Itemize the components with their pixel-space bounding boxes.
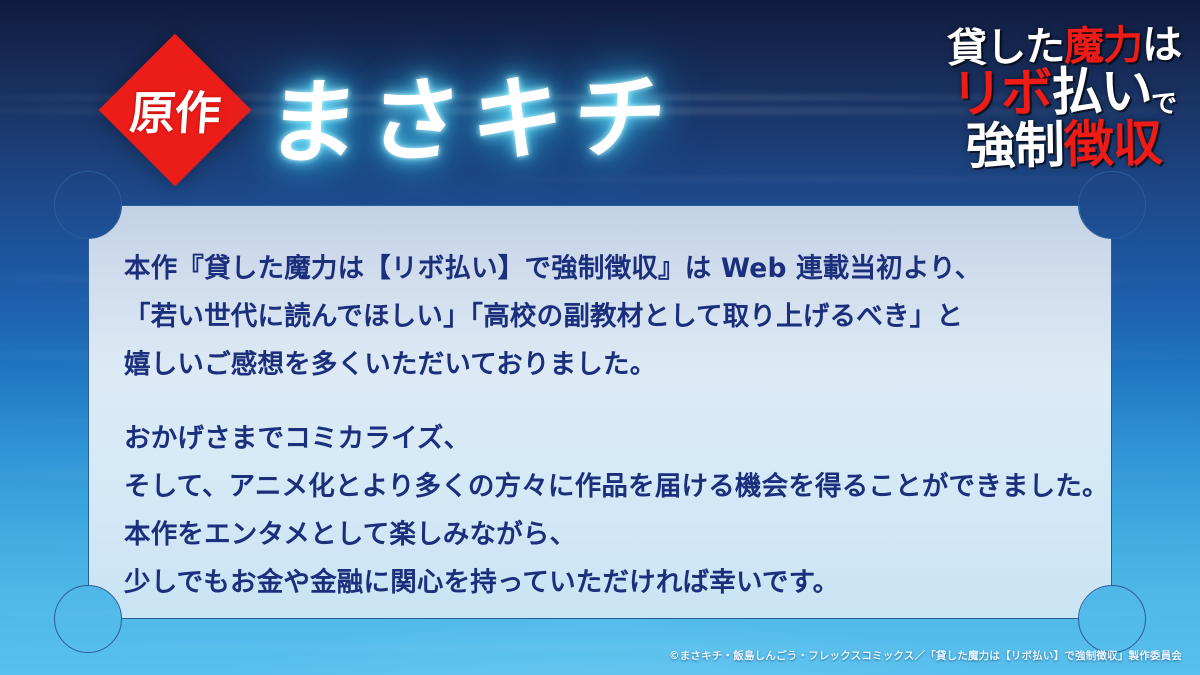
presentation-slide: 原作 まさキチ 貸した魔力は リボ払いで 強制徴収 本作『貸した魔力は【リボ払い… — [0, 0, 1200, 675]
title-logo-seg: 徴収 — [1063, 113, 1162, 174]
original-work-badge: 原作 — [99, 34, 251, 186]
message-panel: 本作『貸した魔力は【リボ払い】で強制徴収』は Web 連載当初より、 「若い世代… — [88, 205, 1112, 619]
message-line: 本作『貸した魔力は【リボ払い】で強制徴収』は Web 連載当初より、 — [124, 245, 1084, 293]
paragraph-spacer — [124, 389, 1084, 415]
message-line: そして、アニメ化とより多くの方々に作品を届ける機会を得ることができました。 — [124, 463, 1084, 511]
author-name: まさキチ — [263, 42, 681, 182]
original-work-badge-label: 原作 — [94, 34, 257, 186]
copyright-notice: ©まさキチ・飯島しんごう・フレックスコミックス／「貸した魔力は【リボ払い】で強制… — [669, 648, 1182, 663]
background-light-streak — [456, 178, 1200, 180]
message-body: 本作『貸した魔力は【リボ払い】で強制徴収』は Web 連載当初より、 「若い世代… — [124, 245, 1084, 607]
title-logo-seg: 強制 — [965, 115, 1064, 176]
paragraph-1: 本作『貸した魔力は【リボ払い】で強制徴収』は Web 連載当初より、 「若い世代… — [124, 245, 1084, 389]
message-line: 嬉しいご感想を多くいただいておりました。 — [124, 341, 1084, 389]
series-title-logo: 貸した魔力は リボ払いで 強制徴収 — [947, 26, 1179, 170]
paragraph-2: おかげさまでコミカライズ、 そして、アニメ化とより多くの方々に作品を届ける機会を… — [124, 415, 1084, 607]
message-line: 本作をエンタメとして楽しみながら、 — [124, 511, 1084, 559]
message-line: 少しでもお金や金融に関心を持っていただければ幸いです。 — [124, 559, 1084, 607]
message-line: おかげさまでコミカライズ、 — [124, 415, 1084, 463]
title-logo-line-3: 強制徴収 — [948, 119, 1179, 171]
message-line: 「若い世代に読んでほしい」「高校の副教材として取り上げるべき」と — [124, 293, 1084, 341]
